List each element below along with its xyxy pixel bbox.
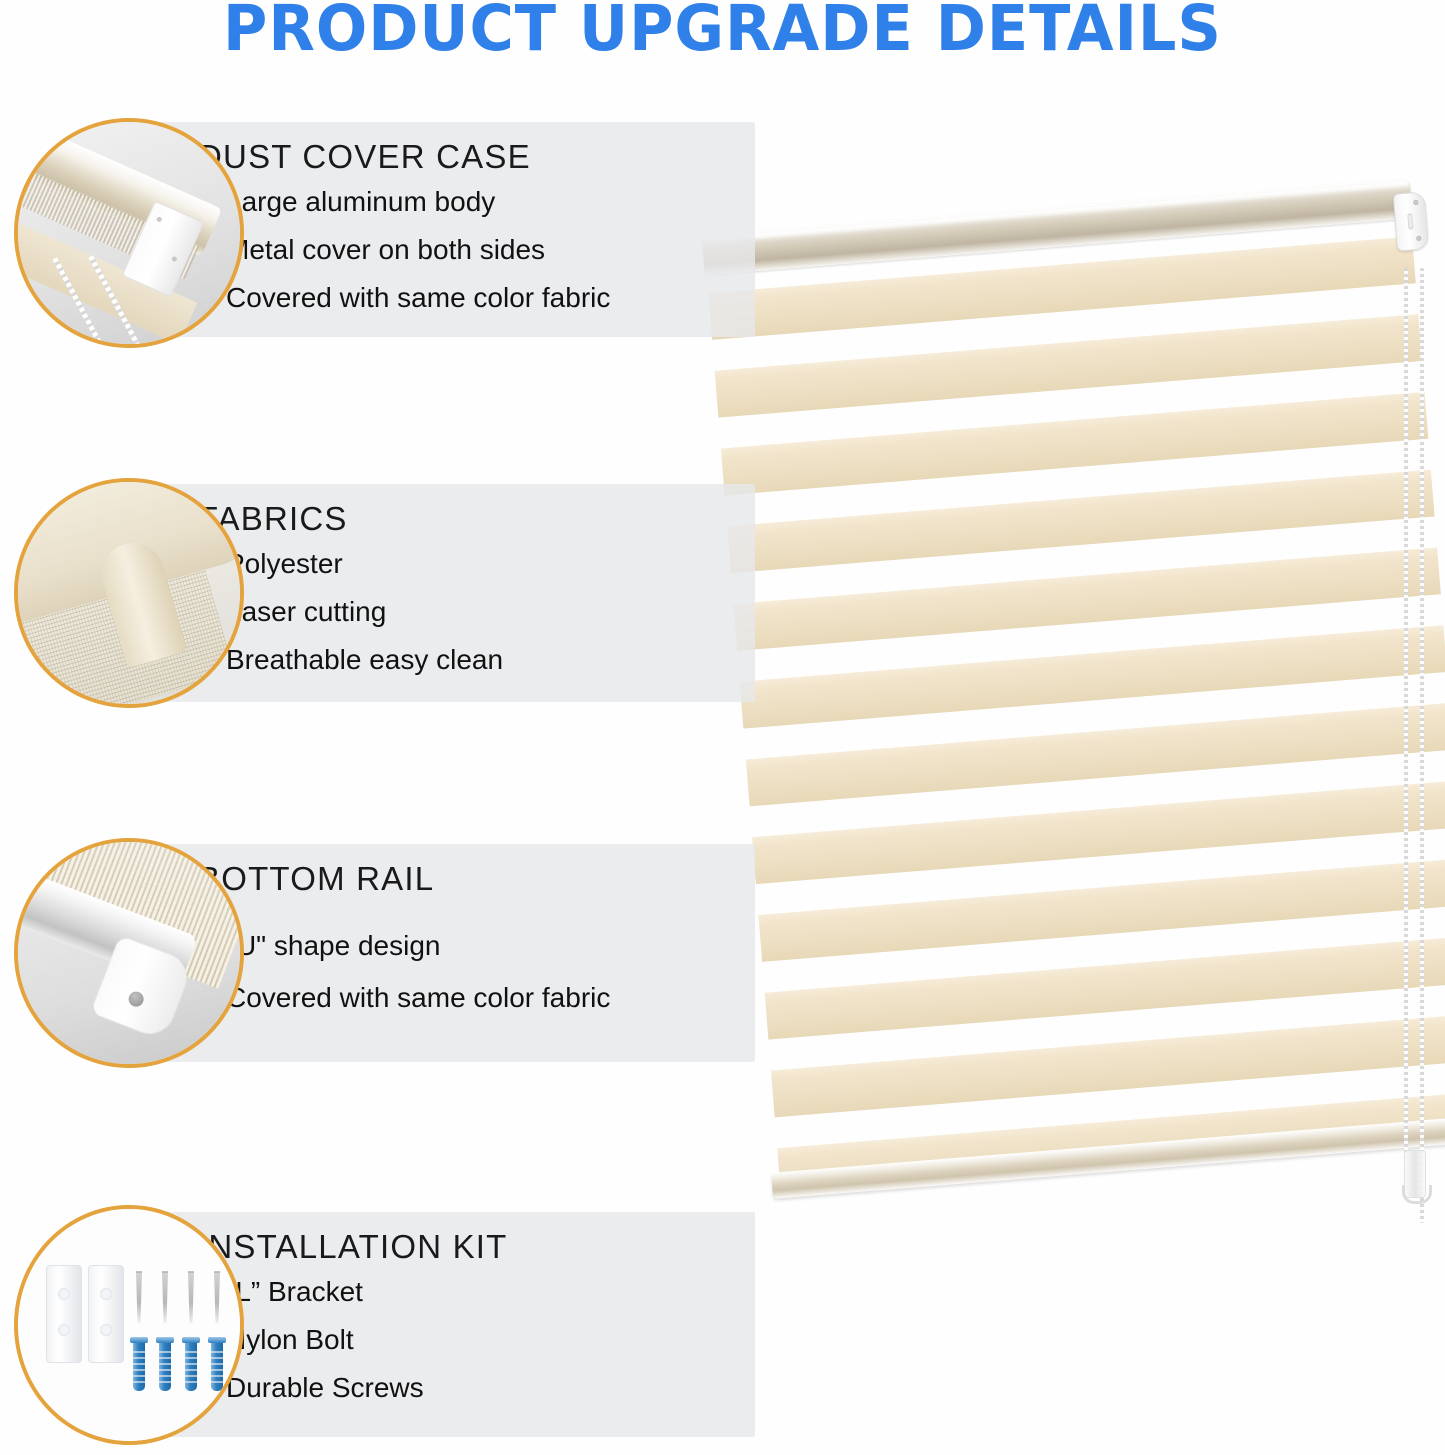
bead-chain-loop	[1402, 1185, 1432, 1204]
list-item: Laser cutting	[200, 598, 503, 626]
list-item: "U" shape design	[200, 932, 610, 960]
list-item: Breathable easy clean	[200, 646, 503, 674]
nylon-anchor-icon	[133, 1341, 145, 1391]
list-item: Metal cover on both sides	[200, 236, 610, 264]
l-bracket-icon	[88, 1265, 124, 1363]
screw-icon	[1416, 236, 1421, 241]
nylon-anchor-icon	[185, 1341, 197, 1391]
feature-thumbnail-dust-cover-case	[14, 118, 244, 348]
nylon-anchor-icon	[211, 1341, 223, 1391]
zebra-roller-blind-illustration	[680, 215, 1445, 1305]
feature-bullet-list: Polyester Laser cutting Breathable easy …	[200, 550, 503, 674]
feature-bullet-list: "U" shape design Covered with same color…	[200, 932, 610, 1012]
list-item: Polyester	[200, 550, 503, 578]
l-bracket-icon	[46, 1265, 82, 1363]
feature-heading: DUST COVER CASE	[198, 138, 531, 176]
feature-thumbnail-installation-kit	[14, 1205, 244, 1445]
feature-thumbnail-fabrics	[14, 478, 244, 708]
screw-icon	[1413, 200, 1418, 205]
zebra-fabric	[707, 218, 1445, 1172]
bead-chain-strand[interactable]	[1404, 268, 1408, 1193]
feature-heading: INSTALLATION KIT	[198, 1228, 508, 1266]
nylon-anchor-icon	[159, 1341, 171, 1391]
product-upgrade-infographic: PRODUCT UPGRADE DETAILS	[0, 0, 1445, 1455]
feature-thumbnail-bottom-rail	[14, 838, 244, 1068]
feature-bullet-list: Large aluminum body Metal cover on both …	[200, 188, 610, 312]
list-item: Covered with same color fabric	[200, 984, 610, 1012]
bead-chain-strand[interactable]	[1420, 268, 1424, 1223]
page-title: PRODUCT UPGRADE DETAILS	[29, 0, 1416, 65]
blind-body	[680, 156, 1445, 1222]
chain-slot-icon	[1407, 213, 1413, 229]
headrail-endcap	[1393, 191, 1430, 251]
list-item: Covered with same color fabric	[200, 284, 610, 312]
list-item: Large aluminum body	[200, 188, 610, 216]
